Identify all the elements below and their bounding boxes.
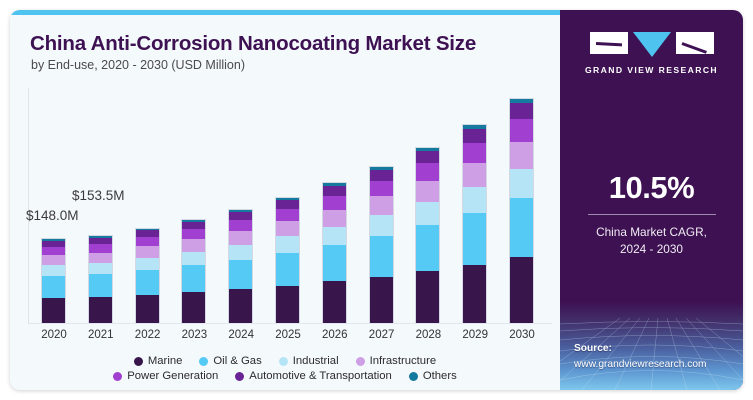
legend-swatch-icon bbox=[134, 357, 143, 366]
bar-segment-automotive-transportation bbox=[229, 212, 252, 220]
bar-segment-infrastructure bbox=[276, 221, 299, 236]
bar-segment-automotive-transportation bbox=[463, 129, 486, 143]
bar-segment-oil-gas bbox=[323, 245, 346, 282]
brand-logo: GRAND VIEW RESEARCH bbox=[560, 32, 743, 75]
bar-2028[interactable] bbox=[415, 147, 440, 323]
bar-segment-marine bbox=[136, 295, 159, 323]
legend-item-automotive-transportation[interactable]: Automotive & Transportation bbox=[235, 370, 392, 382]
legend-swatch-icon bbox=[409, 372, 418, 381]
bar-segment-oil-gas bbox=[229, 260, 252, 290]
bar-segment-oil-gas bbox=[136, 270, 159, 295]
legend-swatch-icon bbox=[356, 357, 365, 366]
legend-label: Automotive & Transportation bbox=[249, 370, 392, 382]
bar-2024[interactable] bbox=[228, 209, 253, 323]
bar-2020[interactable] bbox=[41, 238, 66, 323]
bar-segment-power-generation bbox=[416, 163, 439, 181]
x-axis-label-2022: 2022 bbox=[126, 329, 170, 341]
legend-swatch-icon bbox=[113, 372, 122, 381]
bar-segment-automotive-transportation bbox=[416, 151, 439, 163]
bar-2021[interactable] bbox=[88, 235, 113, 323]
legend-swatch-icon bbox=[279, 357, 288, 366]
infographic-card: China Anti-Corrosion Nanocoating Market … bbox=[10, 10, 743, 390]
bar-segment-infrastructure bbox=[136, 246, 159, 257]
logo-v-triangle-icon bbox=[633, 32, 671, 57]
x-axis-label-2027: 2027 bbox=[360, 329, 404, 341]
bar-2030[interactable] bbox=[509, 98, 534, 323]
bar-segment-infrastructure bbox=[416, 181, 439, 202]
bar-segment-automotive-transportation bbox=[136, 230, 159, 237]
bar-segment-oil-gas bbox=[276, 253, 299, 286]
bar-segment-marine bbox=[182, 292, 205, 323]
bar-segment-oil-gas bbox=[89, 274, 112, 297]
legend-swatch-icon bbox=[199, 357, 208, 366]
cagr-stat: 10.5% China Market CAGR, 2024 - 2030 bbox=[560, 170, 743, 258]
source-label: Source: bbox=[574, 341, 707, 356]
bar-segment-automotive-transportation bbox=[510, 103, 533, 119]
brand-name: GRAND VIEW RESEARCH bbox=[585, 65, 718, 75]
logo-r-icon bbox=[676, 32, 714, 54]
legend-item-oil-gas[interactable]: Oil & Gas bbox=[199, 355, 261, 367]
bar-segment-infrastructure bbox=[510, 142, 533, 169]
bar-2022[interactable] bbox=[135, 228, 160, 323]
bar-segment-infrastructure bbox=[370, 196, 393, 215]
bar-segment-oil-gas bbox=[42, 276, 65, 298]
brand-panel: GRAND VIEW RESEARCH 10.5% China Market C… bbox=[560, 10, 743, 390]
legend-label: Others bbox=[423, 370, 457, 382]
bar-segment-automotive-transportation bbox=[276, 200, 299, 209]
bar-segment-marine bbox=[42, 298, 65, 323]
bar-segment-power-generation bbox=[229, 220, 252, 231]
cagr-label: China Market CAGR, 2024 - 2030 bbox=[560, 224, 743, 258]
bar-2023[interactable] bbox=[181, 219, 206, 323]
bar-segment-oil-gas bbox=[182, 265, 205, 292]
x-axis-label-2026: 2026 bbox=[313, 329, 357, 341]
x-axis-label-2023: 2023 bbox=[172, 329, 216, 341]
legend-item-industrial[interactable]: Industrial bbox=[279, 355, 339, 367]
x-axis-label-2020: 2020 bbox=[32, 329, 76, 341]
bar-2029[interactable] bbox=[462, 124, 487, 323]
gvr-logo-icon bbox=[590, 32, 714, 57]
source-footer: Source: www.grandviewresearch.com bbox=[560, 302, 743, 390]
bar-segment-power-generation bbox=[42, 247, 65, 255]
bar-segment-industrial bbox=[323, 227, 346, 245]
bar-segment-marine bbox=[323, 281, 346, 323]
bar-segment-oil-gas bbox=[416, 225, 439, 271]
chart-left-rule bbox=[28, 88, 29, 323]
bar-segment-power-generation bbox=[89, 244, 112, 253]
legend-item-others[interactable]: Others bbox=[409, 370, 457, 382]
legend-item-power-generation[interactable]: Power Generation bbox=[113, 370, 218, 382]
bar-segment-marine bbox=[89, 297, 112, 323]
bar-segment-industrial bbox=[416, 202, 439, 225]
logo-g-icon bbox=[590, 32, 628, 54]
value-label-2020: $148.0M bbox=[26, 208, 79, 223]
bar-segment-industrial bbox=[276, 236, 299, 252]
bar-segment-power-generation bbox=[463, 143, 486, 163]
bar-segment-industrial bbox=[182, 252, 205, 265]
bar-2026[interactable] bbox=[322, 182, 347, 323]
bar-segment-industrial bbox=[463, 187, 486, 213]
bar-segment-power-generation bbox=[136, 237, 159, 246]
bar-segment-automotive-transportation bbox=[182, 222, 205, 229]
source-url: www.grandviewresearch.com bbox=[574, 359, 707, 370]
x-axis-label-2021: 2021 bbox=[79, 329, 123, 341]
cagr-label-line2: 2024 - 2030 bbox=[620, 242, 683, 256]
x-axis-label-2024: 2024 bbox=[219, 329, 263, 341]
bar-segment-automotive-transportation bbox=[323, 186, 346, 196]
bar-segment-power-generation bbox=[370, 181, 393, 197]
cagr-value: 10.5% bbox=[560, 170, 743, 206]
bar-segment-power-generation bbox=[510, 119, 533, 142]
bar-segment-power-generation bbox=[323, 196, 346, 210]
bar-segment-oil-gas bbox=[370, 236, 393, 277]
bar-2027[interactable] bbox=[369, 166, 394, 323]
bar-segment-infrastructure bbox=[323, 210, 346, 227]
x-axis-label-2029: 2029 bbox=[453, 329, 497, 341]
bar-segment-industrial bbox=[370, 215, 393, 236]
bar-segment-infrastructure bbox=[42, 255, 65, 265]
legend-row-2: Power GenerationAutomotive & Transportat… bbox=[10, 370, 560, 382]
legend-row-1: MarineOil & GasIndustrialInfrastructure bbox=[10, 355, 560, 367]
bar-segment-marine bbox=[370, 277, 393, 323]
bar-segment-marine bbox=[416, 271, 439, 323]
stacked-bar-chart: 2020202120222023202420252026202720282029… bbox=[10, 10, 560, 390]
bar-segment-power-generation bbox=[276, 209, 299, 222]
bar-segment-industrial bbox=[136, 258, 159, 270]
bar-segment-infrastructure bbox=[182, 239, 205, 251]
x-axis-label-2028: 2028 bbox=[406, 329, 450, 341]
legend-swatch-icon bbox=[235, 372, 244, 381]
bar-segment-marine bbox=[276, 286, 299, 323]
chart-panel: China Anti-Corrosion Nanocoating Market … bbox=[10, 10, 560, 390]
bar-segment-marine bbox=[463, 265, 486, 323]
bar-segment-industrial bbox=[229, 245, 252, 260]
bar-segment-oil-gas bbox=[463, 213, 486, 265]
legend-item-infrastructure[interactable]: Infrastructure bbox=[356, 355, 437, 367]
cagr-label-line1: China Market CAGR, bbox=[596, 225, 707, 239]
bar-segment-industrial bbox=[89, 263, 112, 274]
legend-label: Marine bbox=[148, 355, 183, 367]
x-axis-label-2030: 2030 bbox=[500, 329, 544, 341]
bar-segment-marine bbox=[510, 257, 533, 323]
bar-segment-industrial bbox=[510, 169, 533, 199]
legend-label: Industrial bbox=[293, 355, 339, 367]
bar-segment-infrastructure bbox=[463, 163, 486, 187]
bar-segment-infrastructure bbox=[89, 253, 112, 263]
cagr-divider bbox=[588, 214, 716, 215]
bar-segment-automotive-transportation bbox=[370, 170, 393, 181]
bar-segment-industrial bbox=[42, 265, 65, 276]
source-text: Source: www.grandviewresearch.com bbox=[574, 341, 707, 372]
chart-legend: MarineOil & GasIndustrialInfrastructure … bbox=[10, 352, 560, 382]
chart-baseline bbox=[28, 323, 552, 324]
legend-label: Oil & Gas bbox=[213, 355, 261, 367]
value-label-2021: $153.5M bbox=[72, 188, 125, 203]
bar-segment-power-generation bbox=[182, 229, 205, 239]
legend-label: Power Generation bbox=[127, 370, 218, 382]
bar-segment-oil-gas bbox=[510, 198, 533, 257]
bar-segment-marine bbox=[229, 289, 252, 323]
bar-2025[interactable] bbox=[275, 197, 300, 323]
x-axis-label-2025: 2025 bbox=[266, 329, 310, 341]
legend-label: Infrastructure bbox=[370, 355, 437, 367]
bar-segment-infrastructure bbox=[229, 231, 252, 245]
legend-item-marine[interactable]: Marine bbox=[134, 355, 183, 367]
